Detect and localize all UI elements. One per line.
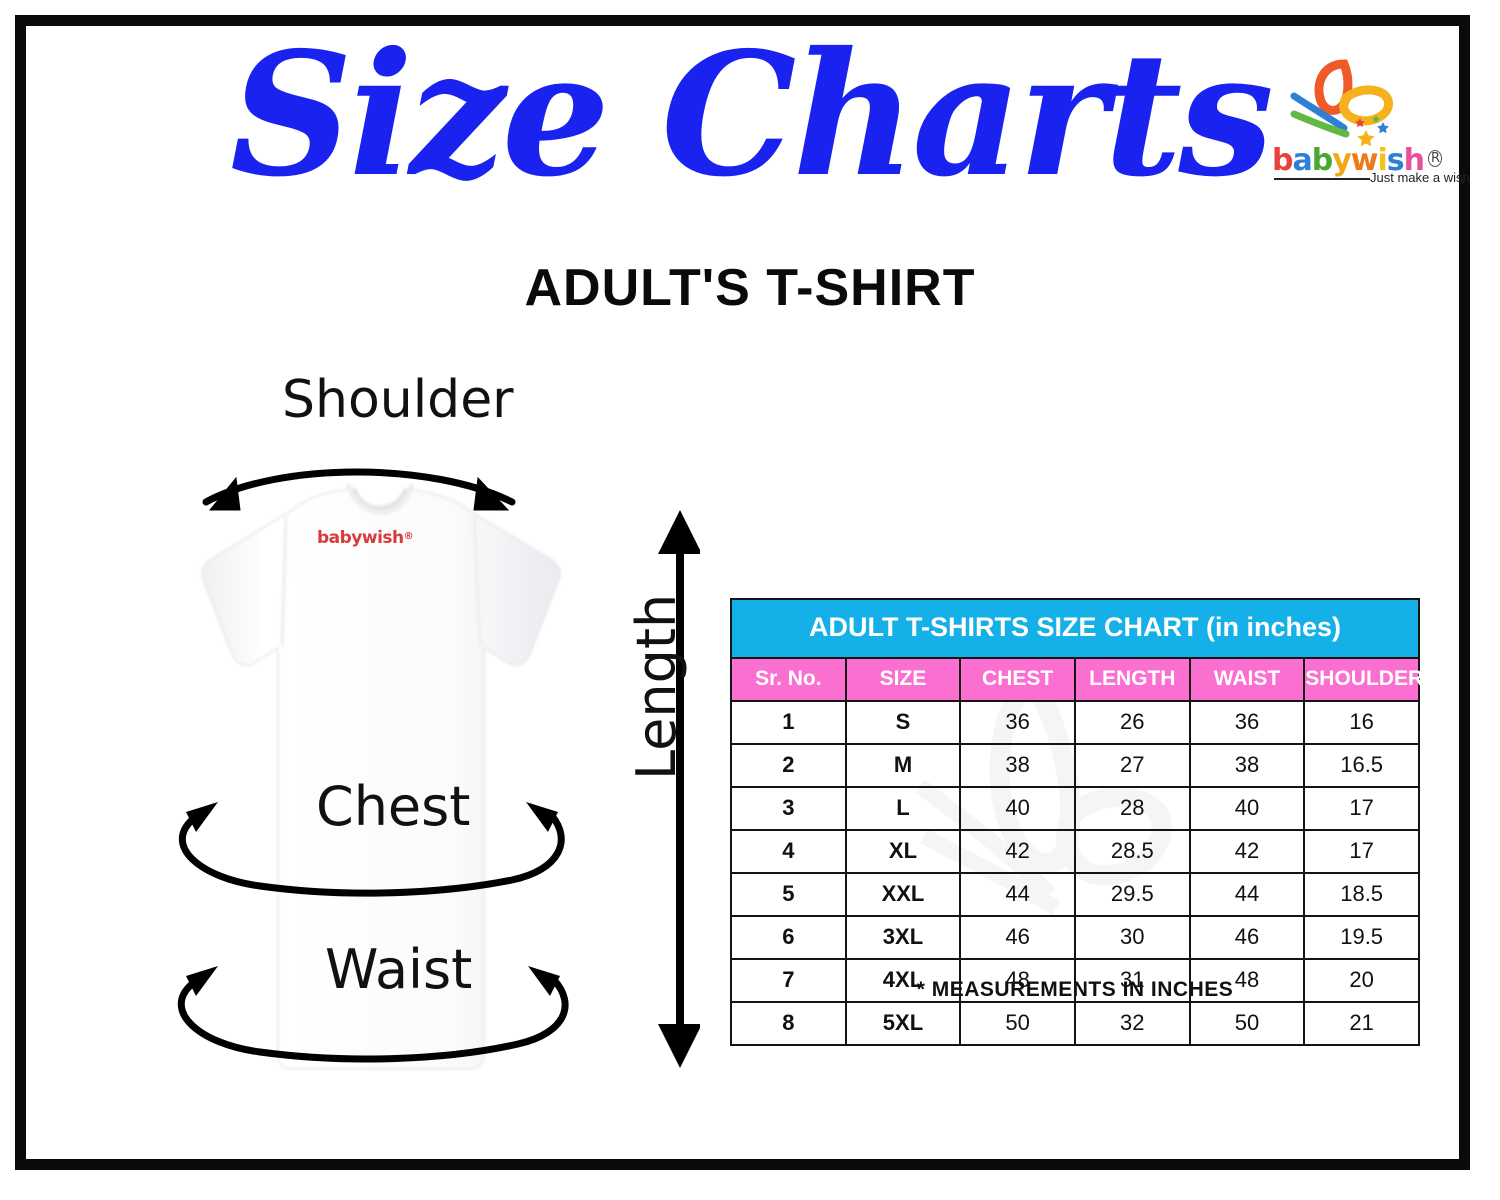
cell-chest: 40 bbox=[960, 787, 1075, 830]
cell-srno: 5 bbox=[731, 873, 846, 916]
cell-chest: 50 bbox=[960, 1002, 1075, 1045]
size-chart-table-container: ADULT T-SHIRTS SIZE CHART (in inches) Sr… bbox=[730, 598, 1420, 1046]
cell-size: S bbox=[846, 701, 961, 744]
cell-length: 26 bbox=[1075, 701, 1190, 744]
cell-size: M bbox=[846, 744, 961, 787]
cell-srno: 3 bbox=[731, 787, 846, 830]
cell-chest: 42 bbox=[960, 830, 1075, 873]
cell-waist: 48 bbox=[1190, 959, 1305, 1002]
cell-waist: 44 bbox=[1190, 873, 1305, 916]
table-row: 4XL4228.54217 bbox=[731, 830, 1419, 873]
cell-length: 30 bbox=[1075, 916, 1190, 959]
cell-shoulder: 19.5 bbox=[1304, 916, 1419, 959]
cell-length: 27 bbox=[1075, 744, 1190, 787]
logo-tagline: Just make a wish bbox=[1370, 170, 1470, 185]
length-label: Length bbox=[625, 594, 688, 780]
cell-length: 28 bbox=[1075, 787, 1190, 830]
cell-waist: 36 bbox=[1190, 701, 1305, 744]
cell-waist: 42 bbox=[1190, 830, 1305, 873]
logo-letter-0: b bbox=[1272, 143, 1292, 178]
cell-chest: 48 bbox=[960, 959, 1075, 1002]
cell-waist: 40 bbox=[1190, 787, 1305, 830]
table-head: ADULT T-SHIRTS SIZE CHART (in inches) Sr… bbox=[731, 599, 1419, 701]
logo-letter-1: a bbox=[1292, 143, 1311, 178]
table-title: ADULT T-SHIRTS SIZE CHART (in inches) bbox=[731, 599, 1419, 658]
chest-label: Chest bbox=[316, 775, 470, 838]
cell-length: 32 bbox=[1075, 1002, 1190, 1045]
column-header-chest: CHEST bbox=[960, 658, 1075, 701]
cell-size: 4XL bbox=[846, 959, 961, 1002]
page-subtitle: ADULT'S T-SHIRT bbox=[0, 258, 1500, 318]
waist-label: Waist bbox=[325, 938, 472, 1001]
column-header-shoulder: SHOULDER bbox=[1304, 658, 1419, 701]
cell-chest: 44 bbox=[960, 873, 1075, 916]
cell-srno: 2 bbox=[731, 744, 846, 787]
cell-size: XL bbox=[846, 830, 961, 873]
tshirt-measurement-diagram: Shoulder Chest Waist Length babywish® bbox=[60, 350, 700, 1110]
logo-letter-2: b bbox=[1312, 143, 1332, 178]
cell-size: L bbox=[846, 787, 961, 830]
table-title-row: ADULT T-SHIRTS SIZE CHART (in inches) bbox=[731, 599, 1419, 658]
column-header-sr-no: Sr. No. bbox=[731, 658, 846, 701]
cell-srno: 8 bbox=[731, 1002, 846, 1045]
table-body: 1S362636162M38273816.53L402840174XL4228.… bbox=[731, 701, 1419, 1045]
babywish-logo: babywishR Just make a wish bbox=[1262, 58, 1452, 198]
cell-shoulder: 16.5 bbox=[1304, 744, 1419, 787]
size-chart-table: ADULT T-SHIRTS SIZE CHART (in inches) Sr… bbox=[730, 598, 1420, 1046]
cell-shoulder: 17 bbox=[1304, 830, 1419, 873]
table-row: 5XXL4429.54418.5 bbox=[731, 873, 1419, 916]
cell-srno: 4 bbox=[731, 830, 846, 873]
cell-waist: 50 bbox=[1190, 1002, 1305, 1045]
table-row: 85XL50325021 bbox=[731, 1002, 1419, 1045]
butterfly-icon bbox=[1288, 58, 1408, 150]
cell-length: 29.5 bbox=[1075, 873, 1190, 916]
cell-shoulder: 21 bbox=[1304, 1002, 1419, 1045]
table-column-header-row: Sr. No.SIZECHESTLENGTHWAISTSHOULDER bbox=[731, 658, 1419, 701]
cell-waist: 46 bbox=[1190, 916, 1305, 959]
logo-underline bbox=[1274, 178, 1370, 180]
table-row: 2M38273816.5 bbox=[731, 744, 1419, 787]
cell-srno: 7 bbox=[731, 959, 846, 1002]
cell-size: 3XL bbox=[846, 916, 961, 959]
neck-tag-registered-icon: ® bbox=[404, 531, 414, 542]
cell-shoulder: 20 bbox=[1304, 959, 1419, 1002]
cell-srno: 1 bbox=[731, 701, 846, 744]
cell-length: 31 bbox=[1075, 959, 1190, 1002]
cell-shoulder: 17 bbox=[1304, 787, 1419, 830]
cell-waist: 38 bbox=[1190, 744, 1305, 787]
shirt-neck-brand-tag: babywish® bbox=[317, 528, 413, 548]
cell-size: XXL bbox=[846, 873, 961, 916]
cell-srno: 6 bbox=[731, 916, 846, 959]
cell-shoulder: 18.5 bbox=[1304, 873, 1419, 916]
cell-size: 5XL bbox=[846, 1002, 961, 1045]
column-header-length: LENGTH bbox=[1075, 658, 1190, 701]
table-row: 63XL46304619.5 bbox=[731, 916, 1419, 959]
cell-length: 28.5 bbox=[1075, 830, 1190, 873]
shoulder-label: Shoulder bbox=[282, 370, 514, 430]
table-row: 3L40284017 bbox=[731, 787, 1419, 830]
table-row: 1S36263616 bbox=[731, 701, 1419, 744]
column-header-waist: WAIST bbox=[1190, 658, 1305, 701]
logo-letter-3: y bbox=[1332, 143, 1351, 178]
registered-trademark-icon: R bbox=[1428, 150, 1442, 167]
table-row: 74XL48314820 bbox=[731, 959, 1419, 1002]
cell-chest: 36 bbox=[960, 701, 1075, 744]
column-header-size: SIZE bbox=[846, 658, 961, 701]
cell-chest: 38 bbox=[960, 744, 1075, 787]
cell-shoulder: 16 bbox=[1304, 701, 1419, 744]
size-chart-page: Size Charts ADULT'S T-SHIRT babywishR Ju… bbox=[0, 0, 1500, 1200]
cell-chest: 46 bbox=[960, 916, 1075, 959]
